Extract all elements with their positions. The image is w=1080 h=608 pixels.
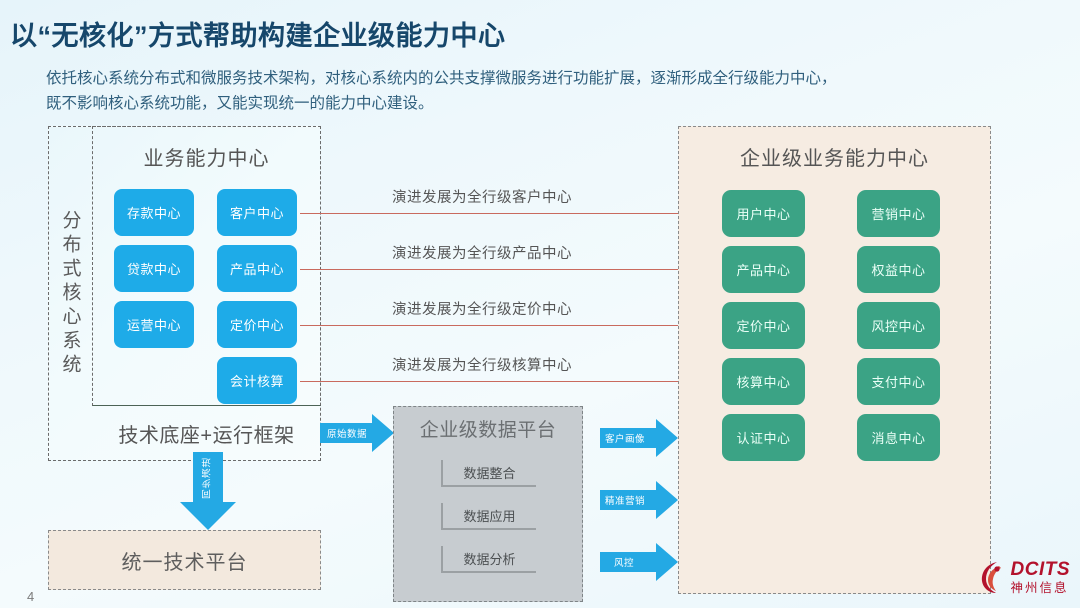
enterprise-box-product[interactable]: 产品中心 xyxy=(722,246,805,293)
enterprise-box-accounting[interactable]: 核算中心 xyxy=(722,358,805,405)
evolution-line-customer xyxy=(300,213,722,214)
logo-text-cn: 神州信息 xyxy=(1011,582,1071,595)
arrow-precision-marketing-label: 精准营销 xyxy=(605,493,645,507)
evolution-label-accounting: 演进发展为全行级核算中心 xyxy=(392,354,572,375)
evolution-line-pricing xyxy=(300,325,722,326)
enterprise-box-riskcontrol[interactable]: 风控中心 xyxy=(857,302,940,349)
unified-technology-platform: 统一技术平台 xyxy=(48,530,321,590)
core-box-operation[interactable]: 运营中心 xyxy=(114,301,194,348)
enterprise-capability-center-title: 企业级业务能力中心 xyxy=(678,142,991,171)
arrow-precision-marketing-tip xyxy=(656,481,678,519)
arrow-sync-evolution: 同步演进 xyxy=(180,452,236,530)
page-number: 4 xyxy=(27,589,34,604)
core-box-accounting[interactable]: 会计核算 xyxy=(217,357,297,404)
evolution-line-accounting xyxy=(300,381,722,382)
core-box-pricing[interactable]: 定价中心 xyxy=(217,301,297,348)
arrow-risk-control-label: 风控 xyxy=(614,555,634,569)
core-box-deposit[interactable]: 存款中心 xyxy=(114,189,194,236)
arrow-raw-data-label: 原始数据 xyxy=(327,426,367,440)
core-box-product[interactable]: 产品中心 xyxy=(217,245,297,292)
logo-text-en: DCITS xyxy=(1011,560,1071,579)
arrow-sync-evolution-label: 同步演进 xyxy=(193,454,223,502)
arrow-customer-profile: 客户画像 xyxy=(600,418,680,458)
enterprise-box-pricing[interactable]: 定价中心 xyxy=(722,302,805,349)
enterprise-box-rights[interactable]: 权益中心 xyxy=(857,246,940,293)
core-box-customer[interactable]: 客户中心 xyxy=(217,189,297,236)
slide-canvas: 以“无核化”方式帮助构建企业级能力中心 依托核心系统分布式和微服务技术架构，对核… xyxy=(0,0,1080,608)
enterprise-data-platform-title: 企业级数据平台 xyxy=(393,415,583,442)
dcits-logo-icon xyxy=(977,560,1007,594)
arrow-raw-data-tip xyxy=(372,414,394,452)
data-platform-item-application[interactable]: 数据应用 xyxy=(441,503,536,530)
arrow-risk-control-tip xyxy=(656,543,678,581)
evolution-line-product xyxy=(300,269,722,270)
business-capability-center-title: 业务能力中心 xyxy=(92,142,321,171)
arrow-customer-profile-label: 客户画像 xyxy=(605,431,645,445)
distributed-core-system-label: 分布式核心系统 xyxy=(48,126,92,461)
data-platform-item-analysis[interactable]: 数据分析 xyxy=(441,546,536,573)
page-subtitle: 依托核心系统分布式和微服务技术架构，对核心系统内的公共支撑微服务进行功能扩展，逐… xyxy=(46,66,996,116)
subtitle-line-2: 既不影响核心系统功能，又能实现统一的能力中心建设。 xyxy=(46,91,996,116)
data-platform-item-integration[interactable]: 数据整合 xyxy=(441,460,536,487)
evolution-label-pricing: 演进发展为全行级定价中心 xyxy=(392,298,572,319)
evolution-label-product: 演进发展为全行级产品中心 xyxy=(392,242,572,263)
core-box-loan[interactable]: 贷款中心 xyxy=(114,245,194,292)
enterprise-box-authentication[interactable]: 认证中心 xyxy=(722,414,805,461)
company-logo: DCITS 神州信息 xyxy=(977,560,1071,595)
enterprise-box-marketing[interactable]: 营销中心 xyxy=(857,190,940,237)
arrow-sync-evolution-tip xyxy=(180,502,236,530)
arrow-customer-profile-tip xyxy=(656,419,678,457)
arrow-precision-marketing: 精准营销 xyxy=(600,480,680,520)
arrow-risk-control: 风控 xyxy=(600,542,680,582)
arrow-raw-data: 原始数据 xyxy=(320,414,394,452)
page-title: 以“无核化”方式帮助构建企业级能力中心 xyxy=(10,14,506,53)
enterprise-box-payment[interactable]: 支付中心 xyxy=(857,358,940,405)
subtitle-line-1: 依托核心系统分布式和微服务技术架构，对核心系统内的公共支撑微服务进行功能扩展，逐… xyxy=(46,66,996,91)
logo-text-group: DCITS 神州信息 xyxy=(1011,560,1071,595)
enterprise-box-message[interactable]: 消息中心 xyxy=(857,414,940,461)
evolution-label-customer: 演进发展为全行级客户中心 xyxy=(392,186,572,207)
enterprise-box-user[interactable]: 用户中心 xyxy=(722,190,805,237)
